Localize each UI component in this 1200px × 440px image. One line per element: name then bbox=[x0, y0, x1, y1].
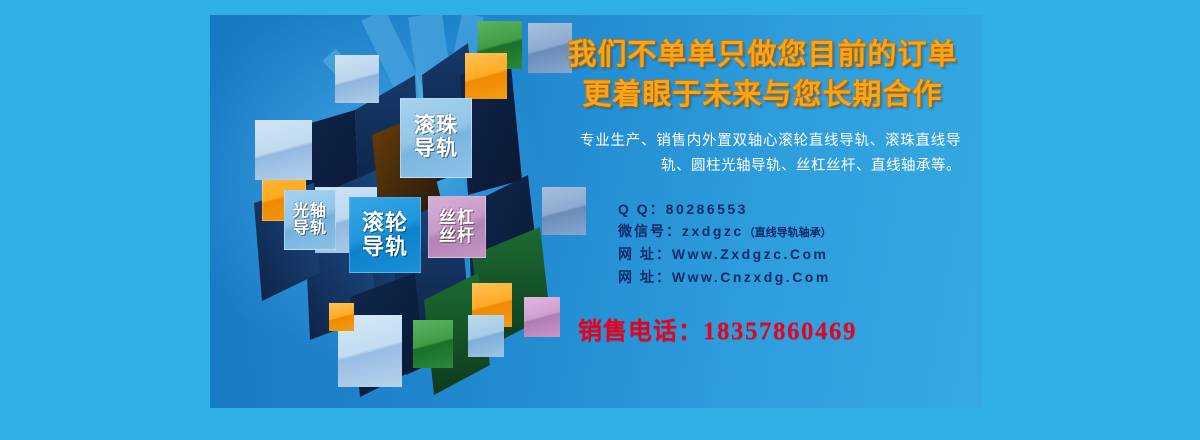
cube-pale-center bbox=[255, 120, 312, 180]
contact-colon: ： bbox=[650, 198, 664, 221]
cube-orange-right bbox=[465, 53, 507, 99]
product-label-gunzhu-daogui[interactable]: 滚珠 导轨 bbox=[400, 98, 472, 178]
sales-phone-number[interactable]: 18357860469 bbox=[703, 318, 857, 345]
cube-pale-upper-middle bbox=[335, 55, 379, 103]
label-line-1: 滚珠 bbox=[414, 115, 458, 138]
contact-row-website-2: 网 址 ： Www.Cnzxdg.Com bbox=[618, 266, 975, 289]
contact-row-wechat: 微信号 ： zxdgzc （直线导轨轴承） bbox=[618, 220, 975, 243]
contact-key: 微信号 bbox=[618, 220, 666, 243]
label-line-1: 丝杠 bbox=[439, 209, 475, 227]
headline-line-2: 更着眼于未来与您长期合作 bbox=[550, 75, 975, 115]
contact-colon: ： bbox=[656, 243, 670, 266]
contact-row-website-1: 网 址 ： Www.Zxdgzc.Com bbox=[618, 243, 975, 266]
label-line-2: 丝杆 bbox=[439, 227, 475, 245]
contact-colon: ： bbox=[656, 266, 670, 289]
contact-value-wechat[interactable]: zxdgzc bbox=[682, 220, 744, 243]
contact-colon: ： bbox=[666, 220, 680, 243]
contact-value-website-2[interactable]: Www.Cnzxdg.Com bbox=[672, 266, 831, 289]
promo-banner: 滚珠 导轨 光轴 导轨 滚轮 导轨 丝杠 丝杆 我们不单单只做您目前的订单 更着… bbox=[0, 0, 1200, 440]
label-line-2: 导轨 bbox=[362, 235, 408, 259]
contact-key: 网 址 bbox=[618, 266, 656, 289]
description-text: 专业生产、销售内外置双轴心滚轮直线导轨、滚珠直线导轨、圆柱光轴导轨、丝杠丝杆、直… bbox=[550, 129, 975, 180]
banner-text-column: 我们不单单只做您目前的订单 更着眼于未来与您长期合作 专业生产、销售内外置双轴心… bbox=[550, 35, 975, 395]
cube-face bbox=[468, 315, 504, 357]
product-label-guangzhou-daogui[interactable]: 光轴 导轨 bbox=[284, 190, 336, 250]
sales-phone[interactable]: 销售电话：18357860469 bbox=[550, 311, 975, 346]
cube-blue-right bbox=[468, 315, 504, 357]
cube-face bbox=[255, 120, 312, 180]
cube-face bbox=[335, 55, 379, 103]
cube-face bbox=[413, 320, 453, 368]
contact-value-qq[interactable]: 80286553 bbox=[666, 198, 748, 221]
contact-row-qq: Q Q ： 80286553 bbox=[618, 198, 975, 221]
label-line-1: 滚轮 bbox=[362, 211, 408, 235]
cube-face bbox=[329, 303, 354, 331]
label-line-2: 导轨 bbox=[414, 138, 458, 161]
label-line-2: 导轨 bbox=[293, 220, 327, 237]
contact-block: Q Q ： 80286553 微信号 ： zxdgzc （直线导轨轴承） 网 址… bbox=[550, 198, 975, 289]
label-line-1: 光轴 bbox=[293, 203, 327, 220]
banner-panel: 滚珠 导轨 光轴 导轨 滚轮 导轨 丝杠 丝杆 我们不单单只做您目前的订单 更着… bbox=[210, 15, 982, 408]
product-label-gunlun-daogui[interactable]: 滚轮 导轨 bbox=[349, 197, 421, 273]
contact-value-website-1[interactable]: Www.Zxdgzc.Com bbox=[672, 243, 829, 266]
contact-note-wechat: （直线导轨轴承） bbox=[744, 225, 832, 243]
contact-key: 网 址 bbox=[618, 243, 656, 266]
sales-phone-label: 销售电话： bbox=[578, 318, 703, 345]
contact-key: Q Q bbox=[618, 198, 650, 221]
cube-green-bottom bbox=[413, 320, 453, 368]
cube-face bbox=[465, 53, 507, 99]
headline-line-1: 我们不单单只做您目前的订单 bbox=[550, 35, 975, 75]
product-label-sigang-sigan[interactable]: 丝杠 丝杆 bbox=[428, 196, 486, 258]
cube-orange-bottom bbox=[329, 303, 354, 331]
